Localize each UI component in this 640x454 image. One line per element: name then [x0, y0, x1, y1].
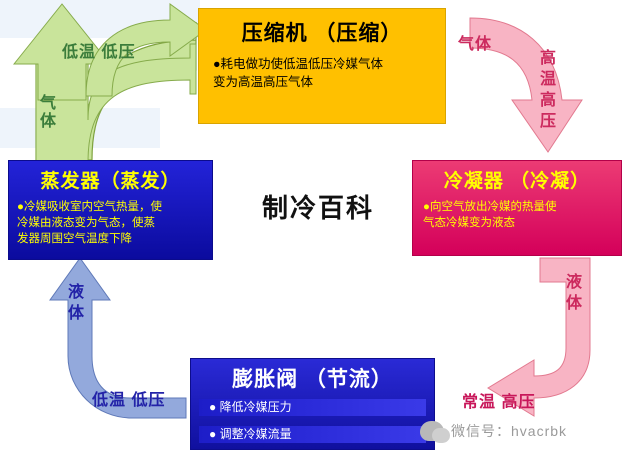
- node-compressor[interactable]: 压缩机 （压缩） ●耗电做功使低温低压冷媒气体 变为高温高压气体: [198, 8, 446, 124]
- condenser-body: ●向空气放出冷媒的热量使 气态冷媒变为液态: [423, 199, 621, 231]
- expansion-line-2: ● 调整冷媒流量: [199, 426, 426, 443]
- compressor-body: ●耗电做功使低温低压冷媒气体 变为高温高压气体: [213, 55, 445, 91]
- expansion-line-1: ● 降低冷媒压力: [199, 399, 426, 416]
- diagram-canvas: 压缩机 （压缩） ●耗电做功使低温低压冷媒气体 变为高温高压气体 冷凝器 （冷凝…: [0, 0, 640, 454]
- label-right-state-gas: 气体: [458, 30, 492, 54]
- wechat-icon: [420, 421, 444, 441]
- condenser-title: 冷凝器 （冷凝）: [413, 166, 621, 193]
- expansion-title: 膨胀阀 （节流）: [191, 363, 434, 393]
- node-expansion-valve[interactable]: 膨胀阀 （节流） ● 降低冷媒压力 ● 调整冷媒流量: [190, 358, 435, 450]
- node-condenser[interactable]: 冷凝器 （冷凝） ●向空气放出冷媒的热量使 气态冷媒变为液态: [412, 160, 622, 256]
- diagram-center-title: 制冷百科: [228, 188, 408, 225]
- label-left-temp-pressure: 低温 低压: [62, 38, 135, 62]
- evaporator-title: 蒸发器（蒸发）: [9, 166, 212, 193]
- evaporator-body: ●冷媒吸收室内空气热量，使 冷媒由液态变为气态，使蒸 发器周围空气温度下降: [17, 199, 212, 247]
- node-evaporator[interactable]: 蒸发器（蒸发） ●冷媒吸收室内空气热量，使 冷媒由液态变为气态，使蒸 发器周围空…: [8, 160, 213, 260]
- label-bottom-left-temp-pressure: 低温 低压: [92, 386, 165, 410]
- label-right-state-liquid: 液 体: [566, 272, 586, 314]
- label-right-temp-pressure: 高 温 高 压: [540, 48, 560, 132]
- label-left-state-gas: 气 体: [40, 95, 60, 131]
- watermark: 微信号：hvacrbk: [420, 408, 640, 454]
- watermark-text: 微信号：hvacrbk: [451, 421, 567, 441]
- label-left-state-liquid: 液 体: [68, 282, 88, 324]
- compressor-title: 压缩机 （压缩）: [199, 17, 445, 47]
